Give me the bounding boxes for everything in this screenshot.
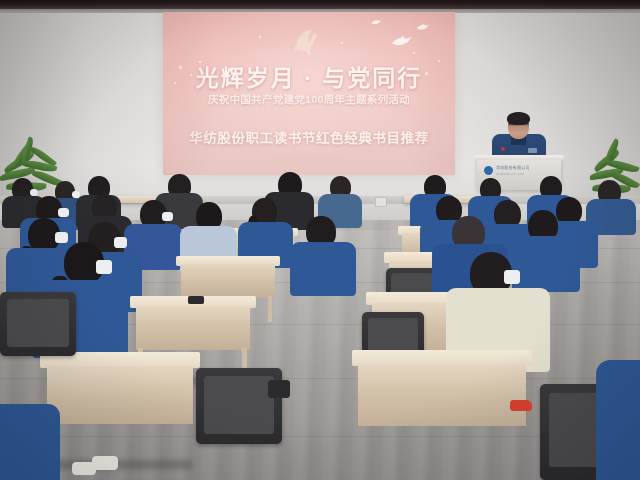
podium-logo-text: 华纺股份有限公司 xyxy=(496,165,546,171)
podium-logo-mark xyxy=(484,166,493,175)
conference-room-photo: 光辉岁月 · 与党同行 庆祝中国共产党建党100周年主题系列活动 华纺股份职工读… xyxy=(0,0,640,480)
screen-vignette xyxy=(163,12,455,175)
ceiling-band xyxy=(0,0,640,9)
presenter-uniform-logo xyxy=(528,148,537,153)
student-desk-panel xyxy=(358,364,526,426)
white-sneaker xyxy=(72,462,96,475)
podium-top-surface xyxy=(474,155,564,160)
red-sneaker xyxy=(510,400,532,411)
student-desk-panel xyxy=(136,306,250,350)
projection-screen: 光辉岁月 · 与党同行 庆祝中国共产党建党100周年主题系列活动 华纺股份职工读… xyxy=(163,12,455,175)
office-chair xyxy=(0,292,76,356)
wall-power-outlet xyxy=(375,197,387,207)
black-bag xyxy=(268,380,290,398)
desk-leg xyxy=(268,296,272,322)
student-desk-panel xyxy=(181,264,275,298)
student-desk-panel xyxy=(47,366,193,424)
podium-logo-subtext: HUAFANG CO., LTD xyxy=(496,172,546,176)
presenter-party-badge xyxy=(501,147,505,151)
presenter-hair xyxy=(507,112,530,125)
mobile-phone-on-desk xyxy=(188,296,204,304)
